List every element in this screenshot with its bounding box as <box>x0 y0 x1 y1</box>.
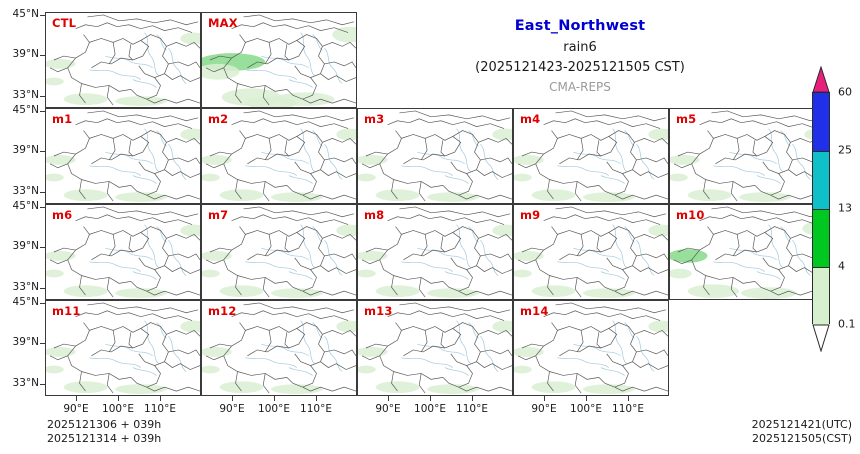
river-line <box>469 227 479 243</box>
administrative-boundary <box>322 42 356 48</box>
x-axis-label: 90°E <box>63 403 88 415</box>
x-axis-label: 90°E <box>375 403 400 415</box>
administrative-boundary <box>324 62 356 68</box>
x-axis-label: 110°E <box>144 403 176 415</box>
river-line <box>133 368 157 376</box>
river-line <box>557 166 608 176</box>
river-line <box>313 35 323 51</box>
panel-member-label: m11 <box>52 304 81 318</box>
precipitation-shading <box>648 129 668 141</box>
river-line <box>145 129 159 172</box>
colorbar-under-arrow-icon <box>812 324 830 352</box>
river-line <box>145 321 159 364</box>
administrative-boundary <box>713 134 772 163</box>
administrative-boundary <box>168 158 200 164</box>
river-line <box>261 152 308 164</box>
precipitation-shading <box>180 321 200 333</box>
river-line <box>301 225 315 268</box>
administrative-boundary <box>265 330 271 352</box>
colorbar-segment <box>813 267 829 325</box>
panel-member-label: m6 <box>52 208 72 222</box>
footer-valid-times: 2025121421(UTC) 2025121505(CST) <box>752 418 852 446</box>
river-line <box>245 70 296 80</box>
administrative-boundary <box>421 138 427 160</box>
panel-member-label: CTL <box>52 16 76 30</box>
precipitation-shading <box>220 189 263 201</box>
administrative-boundary <box>634 330 668 336</box>
administrative-boundary <box>636 254 668 260</box>
y-axis-label: 39°N <box>1 240 39 252</box>
administrative-boundary <box>544 311 660 321</box>
x-axis-label: 90°E <box>531 403 556 415</box>
river-line <box>613 321 627 364</box>
administrative-boundary <box>763 227 793 270</box>
forecast-panel-m12[interactable]: m12 <box>201 300 357 396</box>
x-axis-tick <box>76 396 77 401</box>
administrative-boundary <box>324 350 356 356</box>
precipitation-shading <box>492 225 512 237</box>
river-line <box>557 358 608 368</box>
administrative-boundary <box>139 35 169 78</box>
river-line <box>133 80 157 88</box>
administrative-boundary <box>295 35 325 78</box>
forecast-panel-m7[interactable]: m7 <box>201 204 357 300</box>
forecast-panel-m3[interactable]: m3 <box>357 108 513 204</box>
river-line <box>289 368 313 376</box>
river-line <box>105 152 152 164</box>
administrative-boundary <box>322 330 356 336</box>
river-line <box>89 358 140 368</box>
precipitation-shading <box>46 174 64 182</box>
administrative-boundary <box>478 330 512 336</box>
river-line <box>457 225 471 268</box>
precipitation-shading <box>64 93 107 105</box>
y-axis-label: 39°N <box>1 336 39 348</box>
river-line <box>445 176 469 184</box>
administrative-boundary <box>109 138 115 160</box>
panel-row: 45°N39°N33°Nm6m7m8m9m10 <box>45 204 825 300</box>
x-axis-tick <box>628 396 629 401</box>
administrative-boundary <box>451 323 481 366</box>
administrative-boundary <box>107 85 113 105</box>
precipitation-shading <box>180 33 200 45</box>
administrative-boundary <box>129 332 133 348</box>
x-axis-tick <box>316 396 317 401</box>
colorbar-segment <box>813 93 829 151</box>
administrative-boundary <box>285 140 289 156</box>
administrative-boundary <box>421 234 427 256</box>
colorbar-tick-label: 13 <box>838 202 852 215</box>
administrative-boundary <box>285 332 289 348</box>
precipitation-shading <box>358 270 376 278</box>
river-line <box>457 321 471 364</box>
administrative-boundary <box>544 119 660 129</box>
colorbar-body <box>812 92 830 324</box>
colorbar-over-arrow-icon <box>812 66 830 93</box>
panel-member-label: m3 <box>364 112 384 126</box>
precipitation-shading <box>670 174 688 182</box>
y-axis-label: 39°N <box>1 144 39 156</box>
river-line <box>601 368 625 376</box>
footer-init-line-2: 2025121314 + 039h <box>47 432 161 446</box>
precipitation-shading <box>336 225 356 237</box>
administrative-boundary <box>401 134 460 163</box>
administrative-boundary <box>109 330 115 352</box>
river-line <box>469 323 479 339</box>
river-line <box>105 248 152 260</box>
colorbar-divider <box>813 209 829 210</box>
administrative-boundary <box>245 38 304 67</box>
administrative-boundary <box>577 234 583 256</box>
administrative-boundary <box>713 230 772 259</box>
river-line <box>301 129 315 172</box>
administrative-boundary <box>421 330 427 352</box>
administrative-boundary <box>87 207 198 217</box>
forecast-panel-m2[interactable]: m2 <box>201 108 357 204</box>
y-axis-label: 33°N <box>1 185 39 197</box>
administrative-boundary <box>324 158 356 164</box>
x-axis-tick <box>472 396 473 401</box>
administrative-boundary <box>419 181 425 201</box>
river-line <box>289 80 313 88</box>
forecast-panel-m10[interactable]: m10 <box>669 204 825 300</box>
river-line <box>625 227 635 243</box>
river-line <box>89 262 140 272</box>
y-axis-label: 33°N <box>1 89 39 101</box>
forecast-panel-m4[interactable]: m4 <box>513 108 669 204</box>
river-line <box>557 262 608 272</box>
river-line <box>601 272 625 280</box>
river-line <box>157 35 167 51</box>
administrative-boundary <box>245 326 304 355</box>
administrative-boundary <box>107 181 113 201</box>
administrative-boundary <box>731 181 737 201</box>
administrative-boundary <box>577 138 583 160</box>
administrative-boundary <box>89 326 148 355</box>
panel-member-label: m4 <box>520 112 540 126</box>
administrative-boundary <box>733 138 739 160</box>
precipitation-shading <box>336 321 356 333</box>
administrative-boundary <box>166 330 200 336</box>
administrative-boundary <box>265 138 271 160</box>
panel-row: 45°N39°N33°NCTLMAX <box>45 12 825 108</box>
river-line <box>757 272 781 280</box>
precipitation-shading <box>376 381 419 393</box>
river-line <box>301 33 315 76</box>
colorbar-tick-label: 0.1 <box>838 318 856 331</box>
footer-valid-cst: 2025121505(CST) <box>752 432 852 446</box>
forecast-panel-m5[interactable]: m5 <box>669 108 825 204</box>
precipitation-shading <box>46 78 64 86</box>
administrative-boundary <box>388 119 504 129</box>
administrative-boundary <box>243 111 354 121</box>
administrative-boundary <box>129 140 133 156</box>
panel-member-label: m10 <box>676 208 705 222</box>
administrative-boundary <box>388 311 504 321</box>
administrative-boundary <box>733 234 739 256</box>
administrative-boundary <box>597 332 601 348</box>
river-line <box>313 323 323 339</box>
administrative-boundary <box>388 215 504 225</box>
administrative-boundary <box>243 207 354 217</box>
precipitation-shading <box>514 366 532 374</box>
administrative-boundary <box>478 138 512 144</box>
river-line <box>313 227 323 243</box>
administrative-boundary <box>419 277 425 297</box>
administrative-boundary <box>129 44 133 60</box>
administrative-boundary <box>322 138 356 144</box>
precipitation-shading <box>358 366 376 374</box>
colorbar-tick-label: 4 <box>838 260 845 273</box>
river-line <box>245 166 296 176</box>
administrative-boundary <box>575 277 581 297</box>
administrative-boundary <box>263 277 269 297</box>
administrative-boundary <box>265 234 271 256</box>
river-line <box>781 131 791 147</box>
administrative-boundary <box>166 234 200 240</box>
administrative-boundary <box>597 140 601 156</box>
river-line <box>261 344 308 356</box>
administrative-boundary <box>295 131 325 174</box>
administrative-boundary <box>401 326 460 355</box>
footer-init-times: 2025121306 + 039h 2025121314 + 039h <box>47 418 161 446</box>
river-line <box>417 344 464 356</box>
x-axis-tick <box>430 396 431 401</box>
administrative-boundary <box>245 134 304 163</box>
administrative-boundary <box>87 303 198 313</box>
river-line <box>301 321 315 364</box>
administrative-boundary <box>575 181 581 201</box>
administrative-boundary <box>399 303 510 313</box>
administrative-boundary <box>753 140 757 156</box>
x-axis-label: 90°E <box>219 403 244 415</box>
x-axis-label: 100°E <box>258 403 290 415</box>
administrative-boundary <box>87 111 198 121</box>
precipitation-shading <box>492 321 512 333</box>
footer-init-line-1: 2025121306 + 039h <box>47 418 161 432</box>
river-line <box>445 272 469 280</box>
administrative-boundary <box>322 234 356 240</box>
panel-member-label: m2 <box>208 112 228 126</box>
x-axis-tick <box>232 396 233 401</box>
river-line <box>573 344 620 356</box>
administrative-boundary <box>555 111 666 121</box>
precipitation-shading <box>532 381 575 393</box>
administrative-boundary <box>324 254 356 260</box>
forecast-panel-m6[interactable]: m6 <box>45 204 201 300</box>
x-axis-tick <box>118 396 119 401</box>
precipitation-shading <box>376 285 419 297</box>
administrative-boundary <box>634 138 668 144</box>
administrative-boundary <box>168 350 200 356</box>
precipitation-shading <box>220 381 263 393</box>
precipitation-shading <box>648 321 668 333</box>
administrative-boundary <box>636 158 668 164</box>
administrative-boundary <box>753 236 757 252</box>
administrative-boundary <box>607 227 637 270</box>
administrative-boundary <box>263 181 269 201</box>
administrative-boundary <box>478 234 512 240</box>
x-axis-tick <box>388 396 389 401</box>
administrative-boundary <box>76 119 192 129</box>
river-line <box>105 56 152 68</box>
administrative-boundary <box>166 138 200 144</box>
precipitation-shading <box>741 287 796 299</box>
administrative-boundary <box>401 230 460 259</box>
river-line <box>261 248 308 260</box>
forecast-panel-max[interactable]: MAX <box>201 12 357 108</box>
river-line <box>401 166 452 176</box>
administrative-boundary <box>263 373 269 393</box>
y-axis-label: 45°N <box>1 200 39 212</box>
river-line <box>729 248 776 260</box>
river-line <box>133 176 157 184</box>
colorbar-segment <box>813 209 829 267</box>
river-line <box>601 176 625 184</box>
administrative-boundary <box>607 323 637 366</box>
administrative-boundary <box>555 303 666 313</box>
river-line <box>145 33 159 76</box>
administrative-boundary <box>399 111 510 121</box>
administrative-boundary <box>285 236 289 252</box>
precipitation-shading <box>180 129 200 141</box>
panel-empty-slot <box>669 300 825 396</box>
river-line <box>417 248 464 260</box>
panel-member-label: m9 <box>520 208 540 222</box>
administrative-boundary <box>243 15 354 25</box>
colorbar-divider <box>813 151 829 152</box>
administrative-boundary <box>419 373 425 393</box>
administrative-boundary <box>166 42 200 48</box>
river-line <box>313 131 323 147</box>
river-line <box>613 129 627 172</box>
y-axis-label: 45°N <box>1 104 39 116</box>
administrative-boundary <box>76 23 192 33</box>
administrative-boundary <box>597 236 601 252</box>
precipitation-shading <box>670 269 692 279</box>
administrative-boundary <box>700 119 816 129</box>
administrative-boundary <box>711 207 822 217</box>
river-line <box>713 262 764 272</box>
footer-valid-utc: 2025121421(UTC) <box>752 418 852 432</box>
panel-row: 45°N39°N33°Nm11m12m13m14 <box>45 300 825 396</box>
river-line <box>417 152 464 164</box>
administrative-boundary <box>89 134 148 163</box>
precipitation-shading <box>46 270 64 278</box>
administrative-boundary <box>232 311 348 321</box>
precipitation-shading <box>514 174 532 182</box>
forecast-panel-m1[interactable]: m1 <box>45 108 201 204</box>
river-line <box>401 262 452 272</box>
x-axis-tick <box>586 396 587 401</box>
panel-member-label: m12 <box>208 304 237 318</box>
administrative-boundary <box>245 230 304 259</box>
administrative-boundary <box>700 215 816 225</box>
river-line <box>105 344 152 356</box>
administrative-boundary <box>557 326 616 355</box>
river-line <box>769 129 783 172</box>
panel-member-label: m14 <box>520 304 549 318</box>
river-line <box>713 166 764 176</box>
precipitation-shading <box>376 189 419 201</box>
panel-row: 45°N39°N33°Nm1m2m3m4m5 <box>45 108 825 204</box>
administrative-boundary <box>451 227 481 270</box>
river-line <box>157 227 167 243</box>
panel-member-label: m5 <box>676 112 696 126</box>
precipitation-shading <box>358 174 376 182</box>
x-axis-label: 100°E <box>102 403 134 415</box>
precipitation-shading <box>64 381 107 393</box>
precipitation-shading <box>64 285 107 297</box>
forecast-panel-m9[interactable]: m9 <box>513 204 669 300</box>
x-axis-tick <box>274 396 275 401</box>
x-axis-label: 110°E <box>456 403 488 415</box>
river-line <box>469 131 479 147</box>
administrative-boundary <box>76 215 192 225</box>
river-line <box>245 262 296 272</box>
colorbar-tick-label: 60 <box>838 86 852 99</box>
precipitation-shading <box>46 366 64 374</box>
administrative-boundary <box>168 62 200 68</box>
administrative-boundary <box>232 23 348 33</box>
administrative-boundary <box>480 158 512 164</box>
administrative-boundary <box>636 350 668 356</box>
river-line <box>613 225 627 268</box>
administrative-boundary <box>109 234 115 256</box>
administrative-boundary <box>139 227 169 270</box>
panel-member-label: MAX <box>208 16 238 30</box>
administrative-boundary <box>441 332 445 348</box>
forecast-panel-ctl[interactable]: CTL <box>45 12 201 108</box>
administrative-boundary <box>285 44 289 60</box>
administrative-boundary <box>129 236 133 252</box>
panel-member-label: m1 <box>52 112 72 126</box>
y-axis-label: 33°N <box>1 281 39 293</box>
river-line <box>573 248 620 260</box>
administrative-boundary <box>544 215 660 225</box>
administrative-boundary <box>399 207 510 217</box>
river-line <box>261 56 308 68</box>
x-axis-tick <box>160 396 161 401</box>
administrative-boundary <box>577 330 583 352</box>
forecast-panel-m13[interactable]: m13 <box>357 300 513 396</box>
river-line <box>157 323 167 339</box>
precipitation-shading <box>332 27 356 43</box>
administrative-boundary <box>89 38 148 67</box>
administrative-boundary <box>107 373 113 393</box>
x-axis-label: 100°E <box>414 403 446 415</box>
administrative-boundary <box>89 230 148 259</box>
river-line <box>769 225 783 268</box>
forecast-panel-m11[interactable]: m11 <box>45 300 201 396</box>
administrative-boundary <box>139 131 169 174</box>
administrative-boundary <box>634 234 668 240</box>
panel-member-label: m7 <box>208 208 228 222</box>
river-line <box>781 227 791 243</box>
administrative-boundary <box>232 119 348 129</box>
administrative-boundary <box>480 254 512 260</box>
precipitation-shading <box>202 270 220 278</box>
panel-member-label: m13 <box>364 304 393 318</box>
forecast-panel-m8[interactable]: m8 <box>357 204 513 300</box>
river-line <box>625 131 635 147</box>
river-line <box>289 272 313 280</box>
precipitation-shading <box>688 189 731 201</box>
forecast-panel-m14[interactable]: m14 <box>513 300 669 396</box>
colorbar-divider <box>813 267 829 268</box>
river-line <box>445 368 469 376</box>
y-axis-label: 45°N <box>1 8 39 20</box>
